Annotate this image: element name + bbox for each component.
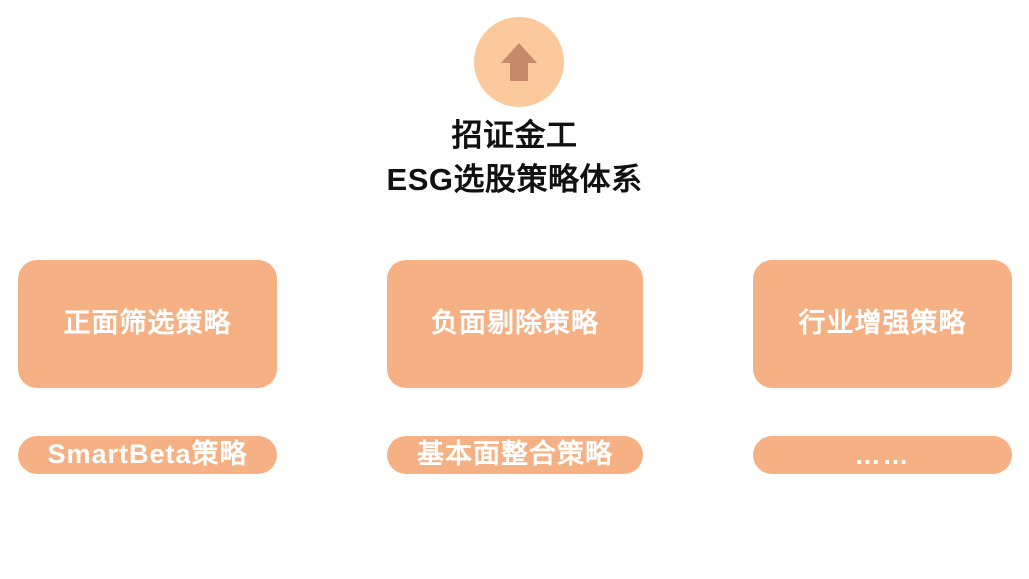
strategy-card-label: 行业增强策略 bbox=[799, 309, 967, 339]
strategy-grid: 正面筛选策略 负面剔除策略 行业增强策略 SmartBeta策略 基本面整合策略… bbox=[18, 260, 1012, 564]
strategy-card-more[interactable]: …… bbox=[753, 436, 1012, 474]
esg-strategy-diagram: 招证金工 ESG选股策略体系 正面筛选策略 负面剔除策略 行业增强策略 Smar… bbox=[0, 0, 1029, 579]
up-arrow-icon bbox=[499, 41, 539, 83]
strategy-card-label: …… bbox=[855, 441, 911, 470]
emblem-badge bbox=[474, 17, 564, 107]
title-line-secondary: ESG选股策略体系 bbox=[0, 162, 1029, 199]
strategy-card-label: 负面剔除策略 bbox=[431, 309, 599, 339]
strategy-card-industry-enhancement[interactable]: 行业增强策略 bbox=[753, 260, 1012, 388]
strategy-card-smart-beta[interactable]: SmartBeta策略 bbox=[18, 436, 277, 474]
strategy-card-label: 正面筛选策略 bbox=[64, 309, 232, 339]
strategy-card-label: 基本面整合策略 bbox=[417, 440, 613, 470]
strategy-card-label: SmartBeta策略 bbox=[47, 440, 247, 470]
strategy-card-negative-exclusion[interactable]: 负面剔除策略 bbox=[387, 260, 643, 388]
strategy-card-positive-screening[interactable]: 正面筛选策略 bbox=[18, 260, 277, 388]
page-title: 招证金工 ESG选股策略体系 bbox=[0, 118, 1029, 198]
title-line-primary: 招证金工 bbox=[0, 118, 1029, 155]
strategy-card-fundamental-integration[interactable]: 基本面整合策略 bbox=[387, 436, 643, 474]
